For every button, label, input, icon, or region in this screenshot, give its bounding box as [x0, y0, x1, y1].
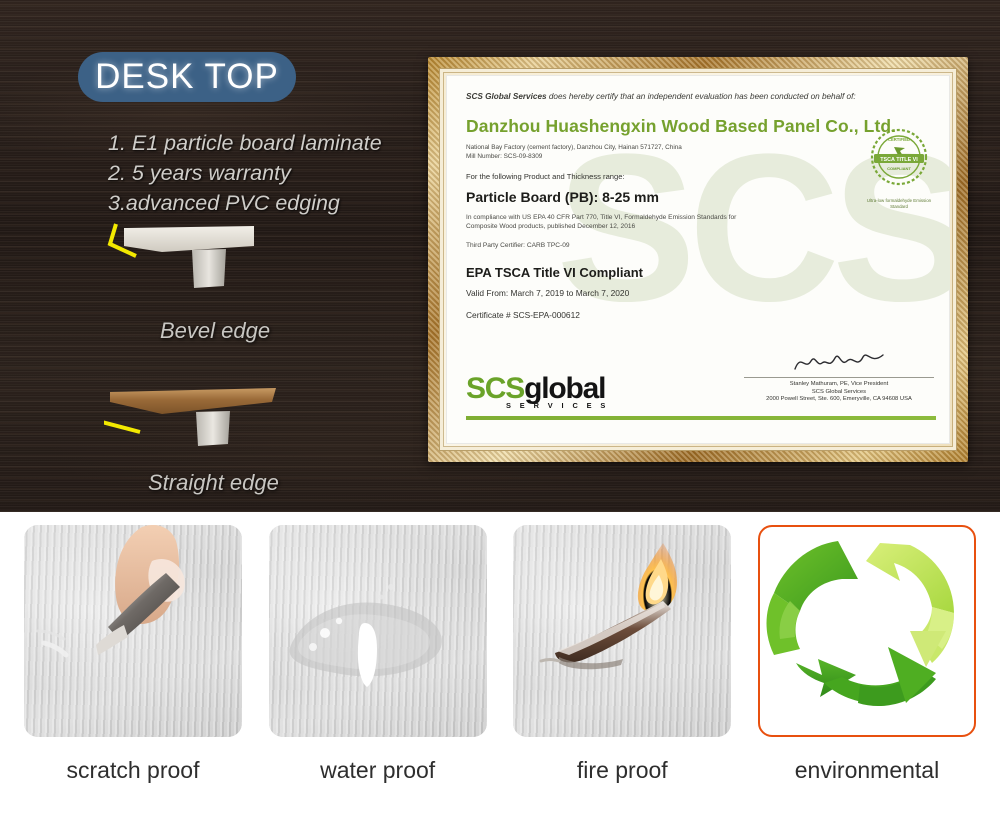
water-droplet-photo [269, 525, 487, 737]
feature-caption: water proof [320, 757, 435, 784]
straight-edge-shape [104, 362, 334, 457]
feature-list-item: 3.advanced PVC edging [108, 188, 468, 218]
bevel-edge-caption: Bevel edge [160, 318, 270, 344]
certificate-validity: Valid From: March 7, 2019 to March 7, 20… [466, 288, 936, 298]
feature-list-item: 1. E1 particle board laminate [108, 128, 468, 158]
water-proof-thumbnail [269, 525, 487, 737]
certificate-product: Particle Board (PB): 8-25 mm [466, 189, 936, 205]
scratch-proof-thumbnail [24, 525, 242, 737]
recycling-icon [760, 527, 974, 735]
flame-photo [513, 525, 731, 737]
environmental-thumbnail [758, 525, 976, 737]
certificate-address: National Bay Factory (cement factory), D… [466, 144, 936, 161]
signature-block: Stanley Mathuram, PE, Vice President SCS… [744, 349, 934, 404]
signatory-org: SCS Global Services [744, 389, 934, 397]
signature-rule [744, 377, 934, 378]
certificate-compliance-line2: Composite Wood products, published Decem… [466, 222, 936, 231]
desk-top-badge: DESK TOP [78, 52, 296, 102]
feature-cell-fire-proof[interactable]: fire proof [511, 525, 733, 820]
feature-caption: scratch proof [67, 757, 200, 784]
feature-cell-water-proof[interactable]: water proof [267, 525, 489, 820]
feature-caption: environmental [795, 757, 939, 784]
certificate-compliance-line1: In compliance with US EPA 40 CFR Part 77… [466, 213, 936, 222]
bevel-edge-diagram [104, 222, 334, 312]
certificate-range-label: For the following Product and Thickness … [466, 172, 936, 181]
desk-top-badge-label: DESK TOP [95, 57, 279, 97]
straight-edge-caption: Straight edge [148, 470, 279, 496]
certificate-page: SCS TSCA TITLE VI COMPLIANT CERTIFIED Ul… [446, 75, 950, 444]
certificate-company-name: Danzhou Huashengxin Wood Based Panel Co.… [466, 116, 936, 137]
signatory-address: 2000 Powell Street, Ste. 600, Emeryville… [744, 396, 934, 404]
certificate-third-party: Third Party Certifier: CARB TPC-09 [466, 242, 936, 249]
feature-list: 1. E1 particle board laminate 2. 5 years… [68, 128, 468, 218]
feature-cell-scratch-proof[interactable]: scratch proof [22, 525, 244, 820]
certificate-footer-rule [466, 416, 936, 420]
certificate-compliance: In compliance with US EPA 40 CFR Part 77… [466, 213, 936, 231]
certificate-intro: SCS Global Services does hereby certify … [466, 91, 936, 102]
feature-list-item: 2. 5 years warranty [108, 158, 468, 188]
knife-scratch-photo [24, 525, 242, 737]
signatory-name: Stanley Mathuram, PE, Vice President [744, 381, 934, 389]
certificate-intro-rest: does hereby certify that an independent … [547, 92, 856, 101]
bevel-edge-shape [104, 222, 334, 312]
feature-cell-environmental[interactable]: environmental [756, 525, 978, 820]
scs-certificate: SCS TSCA TITLE VI COMPLIANT CERTIFIED Ul… [428, 57, 968, 462]
certificate-number: Certificate # SCS-EPA-000612 [466, 310, 936, 320]
certificate-address-line1: National Bay Factory (cement factory), D… [466, 144, 936, 153]
certificate-headline: EPA TSCA Title VI Compliant [466, 265, 936, 280]
certificate-intro-bold: SCS Global Services [466, 92, 547, 101]
certificate-mill-number: Mill Number: SCS-09-8309 [466, 153, 936, 162]
feature-caption: fire proof [577, 757, 668, 784]
scs-logo-services: S E R V I C E S [506, 401, 609, 410]
straight-edge-diagram [104, 362, 334, 457]
signature-icon [791, 349, 887, 375]
feature-strip: scratch proof water proof [0, 512, 1000, 820]
fire-proof-thumbnail [513, 525, 731, 737]
scs-global-logo: SCSglobal S E R V I C E S [466, 374, 609, 410]
desk-top-hero-panel: DESK TOP 1. E1 particle board laminate 2… [0, 0, 1000, 512]
